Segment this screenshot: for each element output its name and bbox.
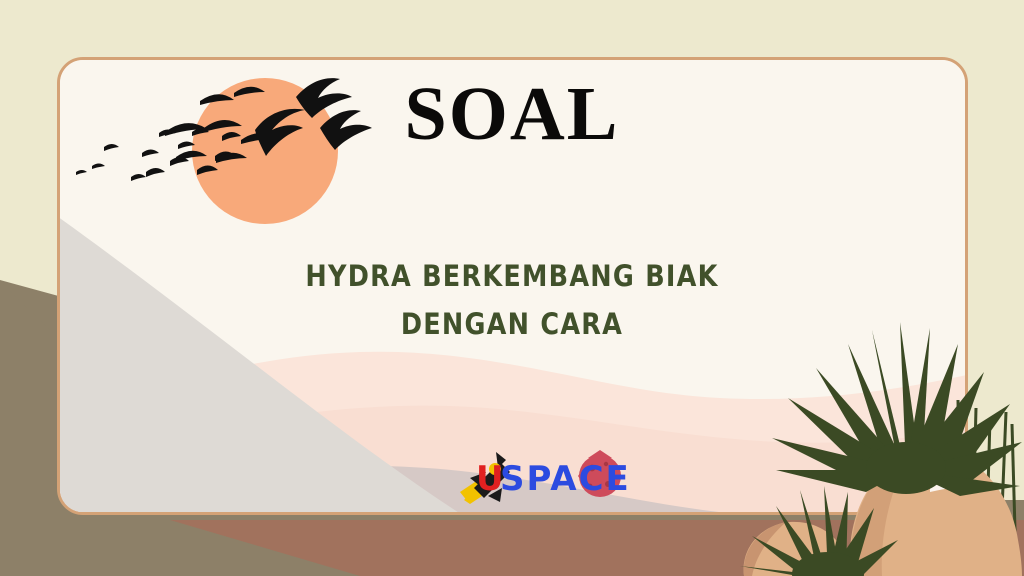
question-line-2: DENGAN CARA: [220, 300, 804, 348]
page-title: SOAL: [0, 73, 1024, 155]
question-text: HYDRA BERKEMBANG BIAK DENGAN CARA: [220, 252, 804, 348]
slide-canvas: SOAL HYDRA BERKEMBANG BIAK DENGAN CARA: [0, 0, 1024, 576]
question-line-1: HYDRA BERKEMBANG BIAK: [220, 252, 804, 300]
logo-text-space: SPACE: [500, 459, 628, 499]
uspace-logo[interactable]: U SPACE: [452, 444, 628, 506]
